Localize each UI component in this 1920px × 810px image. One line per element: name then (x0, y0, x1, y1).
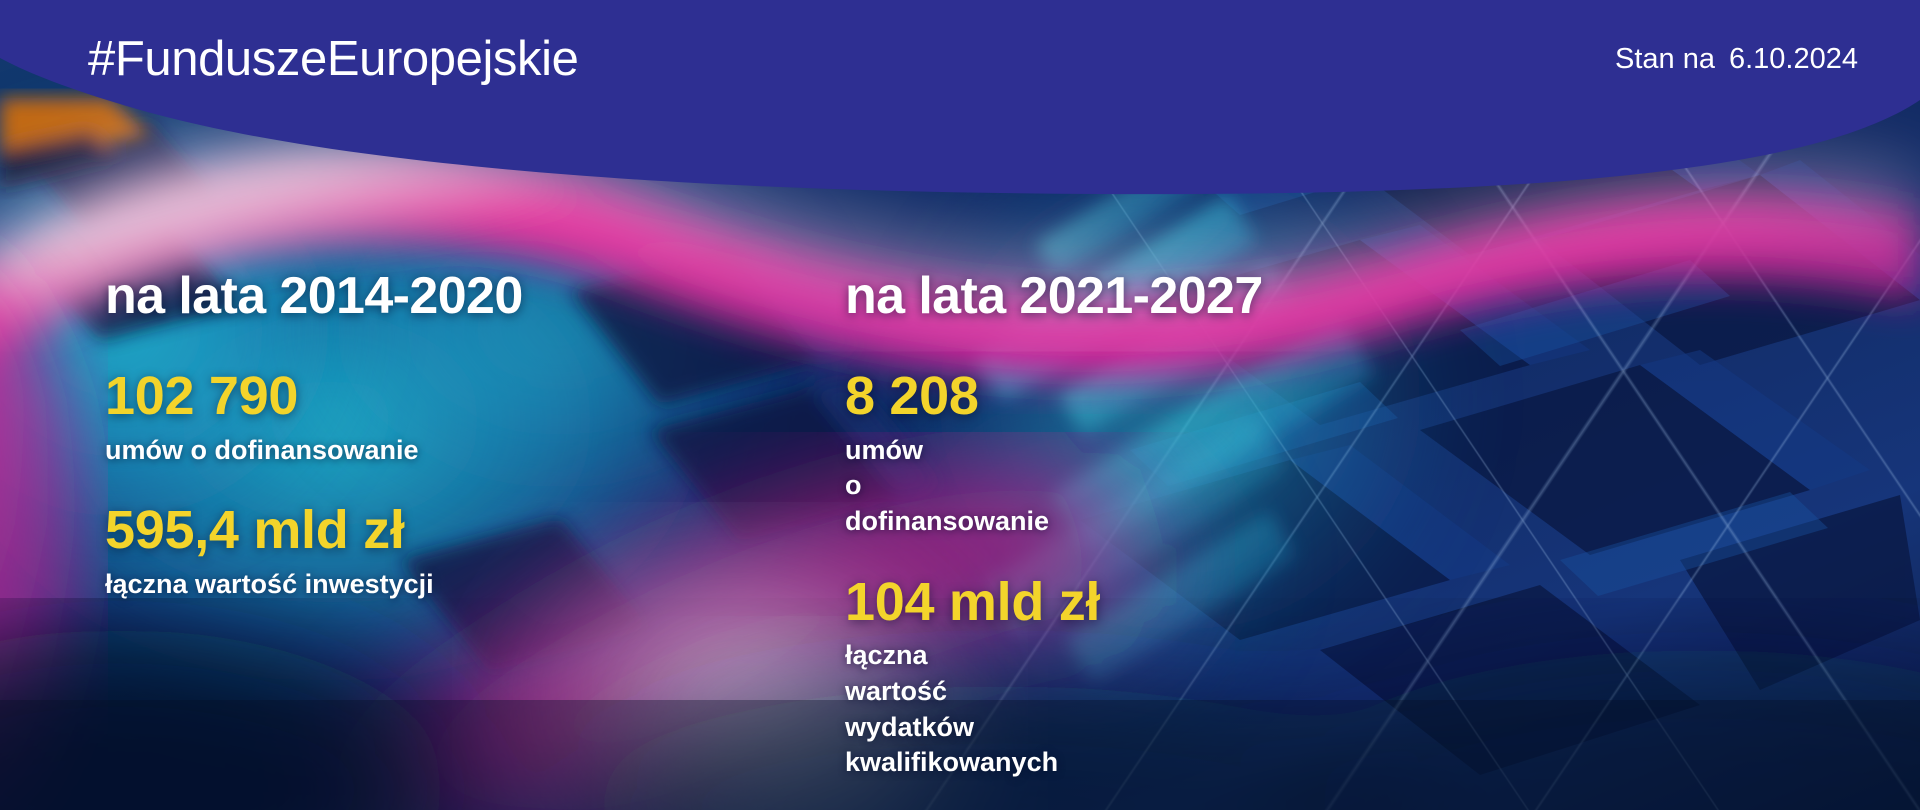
status-date: Stan na 6.10.2024 (1615, 45, 1858, 74)
stat-label: łączna wartość wydatków kwalifikowanych (845, 638, 905, 781)
stat-value: 8 208 (845, 368, 905, 425)
stat-label: umów o dofinansowanie (845, 433, 905, 540)
stats-columns: na lata 2014-2020 102 790 umów o dofinan… (0, 270, 1920, 781)
header: #FunduszeEuropejskie Stan na 6.10.2024 (0, 0, 1920, 118)
stat-eligible-expenditure-2021-2027: 104 mld zł łączna wartość wydatków kwali… (845, 574, 905, 781)
stats-column-2021-2027: na lata 2021-2027 8 208 umów o dofinanso… (5, 270, 905, 781)
date-prefix-label: Stan na (1615, 45, 1715, 74)
column-heading-2021-2027: na lata 2021-2027 (845, 270, 905, 322)
stat-value: 104 mld zł (845, 574, 905, 631)
brand-title: #FunduszeEuropejskie (88, 35, 578, 84)
stat-contracts-2021-2027: 8 208 umów o dofinansowanie (845, 368, 905, 540)
fundusze-europejskie-banner: #FunduszeEuropejskie Stan na 6.10.2024 n… (0, 0, 1920, 810)
date-value: 6.10.2024 (1729, 45, 1858, 74)
